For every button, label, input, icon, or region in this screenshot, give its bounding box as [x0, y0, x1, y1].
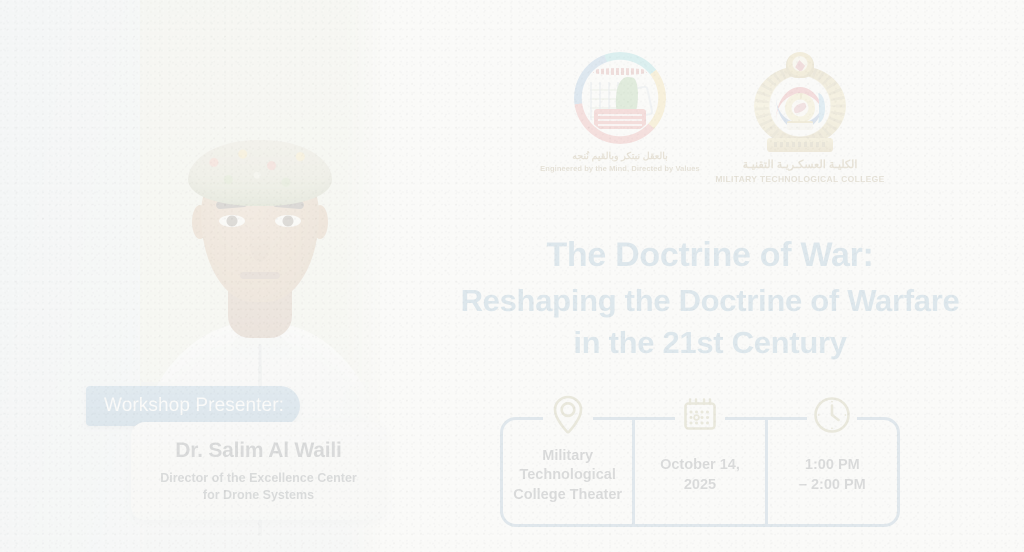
date-line-2: 2025	[660, 476, 740, 496]
date-text: October 14, 2025	[654, 456, 746, 495]
book-icon	[787, 121, 813, 130]
time-line-2: – 2:00 PM	[799, 476, 866, 496]
portrait-eye-right	[275, 215, 301, 227]
presenter-card: Dr. Salim Al Waili Director of the Excel…	[131, 422, 386, 520]
location-line-3: College Theater	[513, 486, 622, 506]
portrait-nose	[250, 228, 270, 262]
portrait-kumma-cap	[188, 140, 332, 204]
emblem-scroll-banner	[767, 138, 833, 152]
portrait-mouth	[240, 272, 280, 279]
calendar-icon	[677, 392, 723, 438]
science-week-arabic-arc	[591, 68, 649, 75]
location-line-2: Technological	[513, 466, 622, 486]
date-line-1: October 14,	[660, 456, 740, 476]
presenter-role-line-2: for Drone Systems	[141, 487, 376, 504]
presenter-block: Workshop Presenter: Dr. Salim Al Waili D…	[86, 386, 386, 520]
time-text: 1:00 PM – 2:00 PM	[793, 456, 872, 495]
science-week-logo: بالعقل نبتكر وبالقيم نُنجه Engineered by…	[544, 52, 696, 173]
location-line-1: Military	[513, 447, 622, 467]
presenter-name: Dr. Salim Al Waili	[141, 439, 376, 463]
event-title-line-1: The Doctrine of War:	[420, 234, 1000, 278]
presenter-role: Director of the Excellence Center for Dr…	[141, 470, 376, 504]
event-detail-time: 1:00 PM – 2:00 PM	[765, 420, 897, 524]
clock-icon	[809, 392, 855, 438]
presenter-role-line-1: Director of the Excellence Center	[141, 470, 376, 487]
science-week-caption-english: Engineered by the Mind, Directed by Valu…	[540, 164, 700, 173]
event-title: The Doctrine of War: Reshaping the Doctr…	[420, 234, 1000, 363]
location-pin-icon	[545, 392, 591, 438]
portrait-eye-left	[219, 215, 245, 227]
military-college-caption-arabic: الكليـة العسكـريـة التقنيـة	[743, 159, 858, 172]
time-line-1: 1:00 PM	[799, 456, 866, 476]
event-title-line-3: in the 21st Century	[420, 323, 1000, 363]
event-detail-location: Military Technological College Theater	[503, 420, 632, 524]
khanjar-crest-icon	[786, 52, 814, 78]
workshop-presenter-banner: Workshop Presenter:	[86, 386, 300, 426]
logo-row: بالعقل نبتكر وبالقيم نُنجه Engineered by…	[540, 52, 880, 202]
location-text: Military Technological College Theater	[507, 447, 628, 506]
military-college-logo-mark	[750, 52, 850, 152]
event-title-line-2: Reshaping the Doctrine of Warfare	[420, 281, 1000, 321]
science-week-badge	[594, 109, 646, 129]
science-week-caption-arabic: بالعقل نبتكر وبالقيم نُنجه	[572, 151, 668, 162]
emblem-center-disc	[773, 81, 827, 135]
event-poster: بالعقل نبتكر وبالقيم نُنجه Engineered by…	[0, 0, 1024, 552]
event-details-bar: Military Technological College Theater	[500, 417, 900, 527]
science-week-logo-inner	[583, 61, 657, 135]
military-college-logo: الكليـة العسكـريـة التقنيـة MILITARY TEC…	[724, 52, 876, 184]
military-college-caption-english: MILITARY TECHNOLOGICAL COLLEGE	[715, 174, 884, 184]
science-week-logo-mark	[574, 52, 666, 144]
event-detail-date: October 14, 2025	[632, 420, 764, 524]
